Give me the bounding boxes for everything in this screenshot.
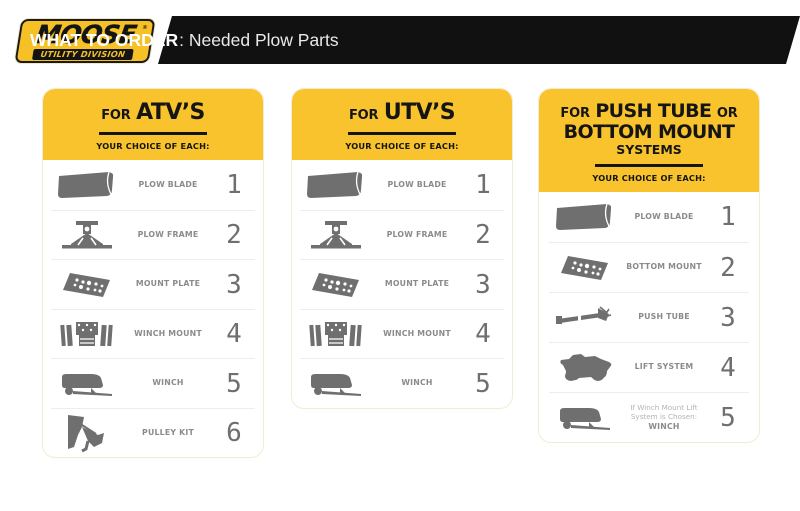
bottom-mount-icon	[549, 253, 621, 283]
card-utv-header: FOR UTV’S YOUR CHOICE OF EACH:	[292, 89, 512, 160]
card-utv-subtitle: YOUR CHOICE OF EACH:	[302, 141, 502, 151]
list-item-number: 3	[462, 272, 504, 298]
winch-mount-icon	[300, 319, 372, 349]
winch-icon	[51, 369, 123, 399]
pulley-kit-icon	[51, 413, 123, 453]
list-item-number: 4	[462, 321, 504, 347]
list-item-number: 1	[707, 204, 749, 230]
divider	[348, 132, 456, 136]
lift-system-icon	[549, 351, 621, 385]
list-item-label: MOUNT PLATE	[372, 279, 462, 290]
list-item-label: PLOW FRAME	[372, 230, 462, 241]
infographic-page: MOOSE UTILITY DIVISION ® WHAT TO ORDER: …	[0, 0, 800, 511]
list-item-number: 4	[707, 355, 749, 381]
list-item[interactable]: PLOW FRAME 2	[300, 210, 504, 260]
card-push-title-line3: SYSTEMS	[549, 143, 749, 157]
list-item-label: MOUNT PLATE	[123, 279, 213, 290]
plow-blade-icon	[51, 171, 123, 199]
card-utv-title: FOR UTV’S	[302, 101, 502, 125]
plow-frame-icon	[51, 219, 123, 251]
divider	[595, 164, 703, 168]
list-item-label-text: WINCH	[621, 422, 707, 433]
card-push-tube-rows: PLOW BLADE 1 BOTTOM MOUNT 2 PUSH TUBE 3	[539, 192, 759, 442]
list-item[interactable]: WINCH MOUNT 4	[300, 309, 504, 359]
card-push-title-main: PUSH TUBE	[595, 100, 711, 122]
list-item-note: If Winch Mount Lift System is Chosen:	[621, 403, 707, 422]
card-atv-title: FOR ATV’S	[53, 101, 253, 125]
list-item-number: 1	[462, 172, 504, 198]
list-item[interactable]: BOTTOM MOUNT 2	[549, 242, 749, 292]
card-atv-header: FOR ATV’S YOUR CHOICE OF EACH:	[43, 89, 263, 160]
list-item-label: BOTTOM MOUNT	[621, 262, 707, 273]
list-item-label: WINCH MOUNT	[123, 329, 213, 340]
list-item-label: PLOW BLADE	[372, 180, 462, 191]
list-item[interactable]: WINCH 5	[300, 358, 504, 408]
push-tube-icon	[549, 305, 621, 331]
winch-icon	[300, 369, 372, 399]
list-item-number: 1	[213, 172, 255, 198]
list-item-number: 5	[707, 405, 749, 431]
mount-plate-icon	[51, 270, 123, 300]
card-utv-rows: PLOW BLADE 1 PLOW FRAME 2 MOUNT PLATE 3	[292, 160, 512, 408]
card-atv: FOR ATV’S YOUR CHOICE OF EACH: PLOW BLAD…	[42, 88, 264, 458]
list-item-number: 3	[213, 272, 255, 298]
list-item-label: PULLEY KIT	[123, 428, 213, 439]
plow-blade-icon	[549, 203, 621, 231]
list-item[interactable]: PLOW BLADE 1	[300, 160, 504, 210]
plow-blade-icon	[300, 171, 372, 199]
winch-mount-icon	[51, 319, 123, 349]
list-item[interactable]: MOUNT PLATE 3	[300, 259, 504, 309]
list-item-number: 5	[213, 371, 255, 397]
card-utv-title-pre: FOR	[349, 108, 378, 123]
list-item-label: LIFT SYSTEM	[621, 362, 707, 373]
list-item-label: PLOW FRAME	[123, 230, 213, 241]
list-item-number: 2	[707, 255, 749, 281]
list-item-number: 4	[213, 321, 255, 347]
page-title-rest: : Needed Plow Parts	[179, 30, 339, 51]
card-push-tube-header: FOR PUSH TUBE OR BOTTOM MOUNT SYSTEMS YO…	[539, 89, 759, 192]
list-item-label: WINCH	[123, 378, 213, 389]
page-header: MOOSE UTILITY DIVISION ® WHAT TO ORDER: …	[0, 16, 800, 64]
list-item[interactable]: MOUNT PLATE 3	[51, 259, 255, 309]
list-item[interactable]: If Winch Mount Lift System is Chosen: WI…	[549, 392, 749, 442]
list-item[interactable]: WINCH MOUNT 4	[51, 309, 255, 359]
list-item-number: 5	[462, 371, 504, 397]
page-title: WHAT TO ORDER: Needed Plow Parts	[30, 16, 339, 64]
card-push-tube-subtitle: YOUR CHOICE OF EACH:	[549, 173, 749, 183]
list-item-number: 6	[213, 420, 255, 446]
list-item[interactable]: PULLEY KIT 6	[51, 408, 255, 458]
card-push-title-line2: BOTTOM MOUNT	[549, 122, 749, 143]
card-atv-rows: PLOW BLADE 1 PLOW FRAME 2 MOUNT PLATE 3	[43, 160, 263, 457]
card-push-title-pre: FOR	[560, 106, 589, 121]
list-item-number: 3	[707, 305, 749, 331]
card-atv-title-main: ATV’S	[136, 100, 205, 125]
list-item-number: 2	[213, 222, 255, 248]
list-item-number: 2	[462, 222, 504, 248]
card-atv-subtitle: YOUR CHOICE OF EACH:	[53, 141, 253, 151]
plow-frame-icon	[300, 219, 372, 251]
list-item[interactable]: PLOW BLADE 1	[549, 192, 749, 242]
list-item-label: If Winch Mount Lift System is Chosen: WI…	[621, 403, 707, 433]
mount-plate-icon	[300, 270, 372, 300]
list-item[interactable]: PLOW BLADE 1	[51, 160, 255, 210]
list-item[interactable]: PUSH TUBE 3	[549, 292, 749, 342]
list-item-label: PLOW BLADE	[123, 180, 213, 191]
card-atv-title-pre: FOR	[101, 108, 130, 123]
divider	[99, 132, 207, 136]
card-utv: FOR UTV’S YOUR CHOICE OF EACH: PLOW BLAD…	[291, 88, 513, 409]
list-item[interactable]: WINCH 5	[51, 358, 255, 408]
list-item-label: WINCH	[372, 378, 462, 389]
list-item-label: PUSH TUBE	[621, 312, 707, 323]
list-item[interactable]: PLOW FRAME 2	[51, 210, 255, 260]
page-title-strong: WHAT TO ORDER	[30, 30, 178, 51]
list-item[interactable]: LIFT SYSTEM 4	[549, 342, 749, 392]
winch-icon	[549, 403, 621, 433]
list-item-label: PLOW BLADE	[621, 212, 707, 223]
card-push-tube: FOR PUSH TUBE OR BOTTOM MOUNT SYSTEMS YO…	[538, 88, 760, 443]
card-push-title-or: OR	[717, 106, 738, 121]
card-utv-title-main: UTV’S	[384, 100, 455, 125]
card-push-tube-title: FOR PUSH TUBE OR BOTTOM MOUNT SYSTEMS	[549, 101, 749, 157]
list-item-label: WINCH MOUNT	[372, 329, 462, 340]
